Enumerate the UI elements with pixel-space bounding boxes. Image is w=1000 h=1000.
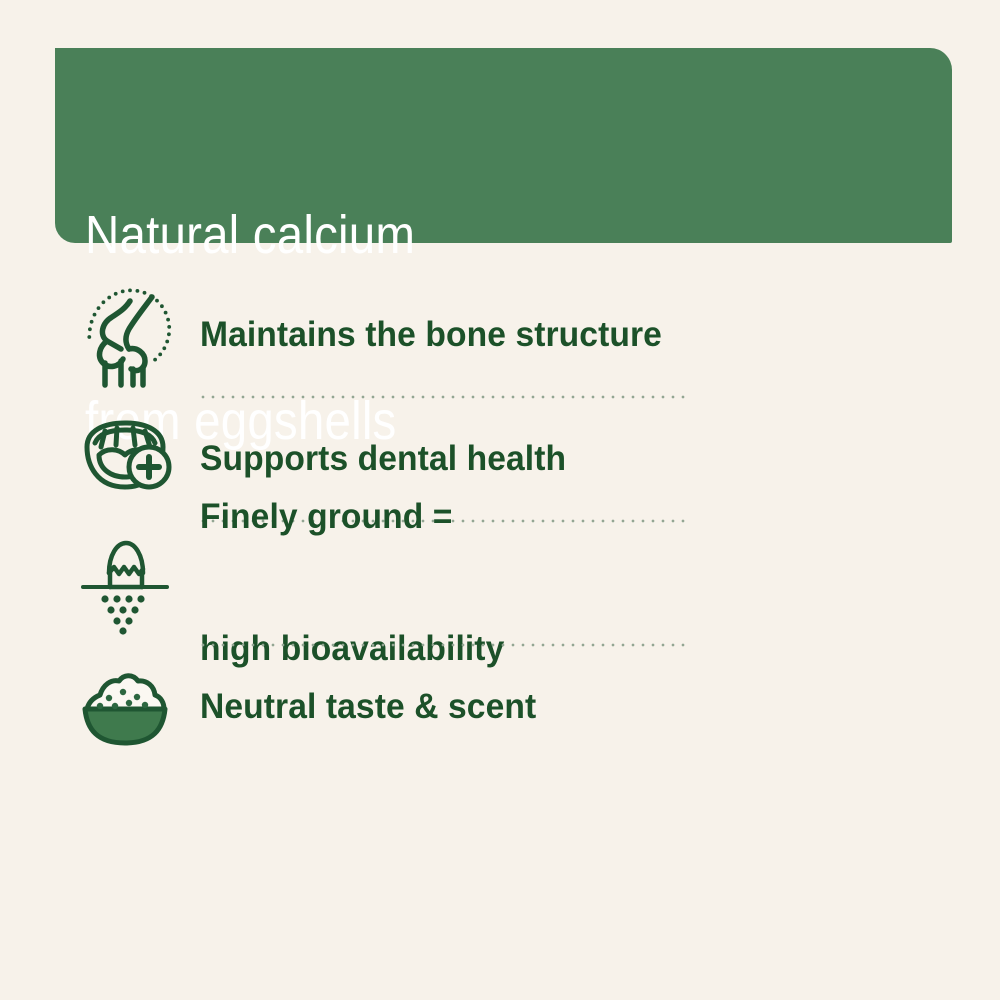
feature-label-line-1: Finely ground =: [200, 495, 504, 539]
promo-panel: Natural calcium from eggshells: [0, 0, 1000, 1000]
header-banner: Natural calcium from eggshells: [55, 48, 952, 243]
cracked-egg-grinding-icon: [60, 527, 190, 639]
pet-food-bowl-icon: [60, 651, 190, 763]
dental-jaw-plus-icon: [60, 403, 190, 515]
feature-label-line-1: Neutral taste & scent: [200, 685, 536, 729]
feature-row-neutral-taste: Neutral taste & scent: [0, 647, 1000, 767]
bone-joint-icon: [60, 279, 190, 391]
feature-list: Maintains the bone structure: [0, 275, 1000, 767]
feature-label-neutral-taste: Neutral taste & scent: [200, 597, 536, 817]
